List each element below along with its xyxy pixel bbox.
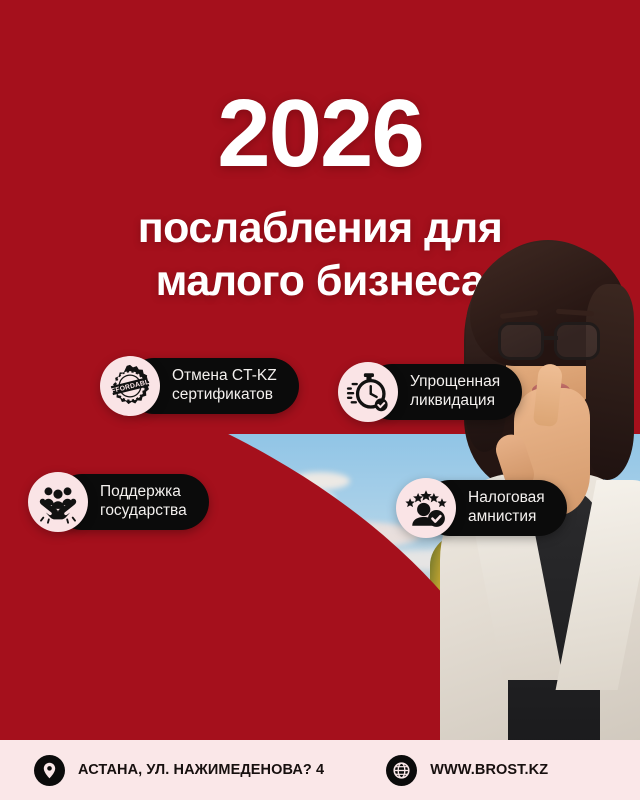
hands-holding-people-icon (28, 472, 88, 532)
location-pin-icon (34, 755, 65, 786)
feature-badge-liquidation[interactable]: Упрощенная ликвидация (338, 362, 522, 422)
feature-badge-tax-amnesty[interactable]: Налоговая амнистия (396, 478, 567, 538)
footer-address-item[interactable]: АСТАНА, УЛ. НАЖИМЕДЕНОВА? 4 (34, 755, 324, 786)
person-stars-check-icon (396, 478, 456, 538)
promo-poster: 2026 послабления для малого бизнеса (0, 0, 640, 800)
footer-address-text: АСТАНА, УЛ. НАЖИМЕДЕНОВА? 4 (78, 762, 324, 778)
feature-badge-state-support[interactable]: Поддержка государства (28, 472, 209, 532)
globe-icon (386, 755, 417, 786)
feature-badge-ct-kz[interactable]: AFFORDABLE Отмена CT-KZ сертификатов (100, 356, 299, 416)
footer-website-text: WWW.BROST.KZ (430, 762, 548, 778)
fast-stopwatch-check-icon (338, 362, 398, 422)
eyeglasses-icon (494, 322, 614, 362)
footer-website-item[interactable]: WWW.BROST.KZ (386, 755, 548, 786)
page-title-year: 2026 (0, 86, 640, 182)
affordable-stamp-icon: AFFORDABLE (100, 356, 160, 416)
footer-bar: АСТАНА, УЛ. НАЖИМЕДЕНОВА? 4 WWW.BROST.KZ (0, 740, 640, 800)
